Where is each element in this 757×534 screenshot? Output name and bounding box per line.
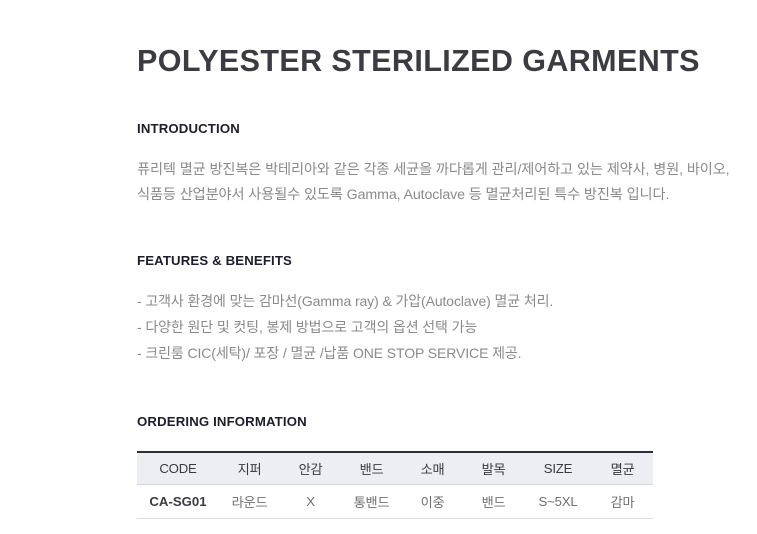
table-row: CA-SG01 라운드 X 통밴드 이중 밴드 S~5XL 감마 [137, 485, 653, 519]
section-heading-features: FEATURES & BENEFITS [137, 253, 737, 268]
cell-size: S~5XL [524, 485, 592, 519]
document-content: POLYESTER STERILIZED GARMENTS INTRODUCTI… [137, 44, 737, 519]
column-header-sleeve: 소매 [402, 452, 463, 485]
cell-zipper: 라운드 [219, 485, 280, 519]
table-header-row: CODE 지퍼 안감 밴드 소매 발목 SIZE 멸균 [137, 452, 653, 485]
page-title: POLYESTER STERILIZED GARMENTS [137, 44, 737, 79]
column-header-lining: 안감 [280, 452, 341, 485]
features-list: - 고객사 환경에 맞는 감마선(Gamma ray) & 가압(Autocla… [137, 288, 737, 366]
list-item: - 크린룸 CIC(세탁)/ 포장 / 멸균 /납품 ONE STOP SERV… [137, 340, 737, 366]
table-header: CODE 지퍼 안감 밴드 소매 발목 SIZE 멸균 [137, 452, 653, 485]
document-page: POLYESTER STERILIZED GARMENTS INTRODUCTI… [0, 0, 757, 534]
cell-lining: X [280, 485, 341, 519]
list-item: - 고객사 환경에 맞는 감마선(Gamma ray) & 가압(Autocla… [137, 288, 737, 314]
section-heading-introduction: INTRODUCTION [137, 121, 737, 136]
column-header-zipper: 지퍼 [219, 452, 280, 485]
cell-sleeve: 이중 [402, 485, 463, 519]
column-header-ankle: 발목 [463, 452, 524, 485]
section-heading-ordering: ORDERING INFORMATION [137, 414, 737, 429]
table-body: CA-SG01 라운드 X 통밴드 이중 밴드 S~5XL 감마 [137, 485, 653, 519]
introduction-paragraph: 퓨리텍 멸균 방진복은 박테리아와 같은 각종 세균을 까다롭게 관리/제어하고… [137, 158, 737, 208]
cell-sterilization: 감마 [592, 485, 653, 519]
column-header-sterilization: 멸균 [592, 452, 653, 485]
column-header-size: SIZE [524, 452, 592, 485]
column-header-code: CODE [137, 452, 219, 485]
column-header-band: 밴드 [341, 452, 402, 485]
ordering-information-table: CODE 지퍼 안감 밴드 소매 발목 SIZE 멸균 CA-SG01 라운드 … [137, 451, 653, 519]
list-item: - 다양한 원단 및 컷팅, 봉제 방법으로 고객의 옵션 선택 가능 [137, 314, 737, 340]
cell-ankle: 밴드 [463, 485, 524, 519]
cell-band: 통밴드 [341, 485, 402, 519]
cell-code: CA-SG01 [137, 485, 219, 519]
